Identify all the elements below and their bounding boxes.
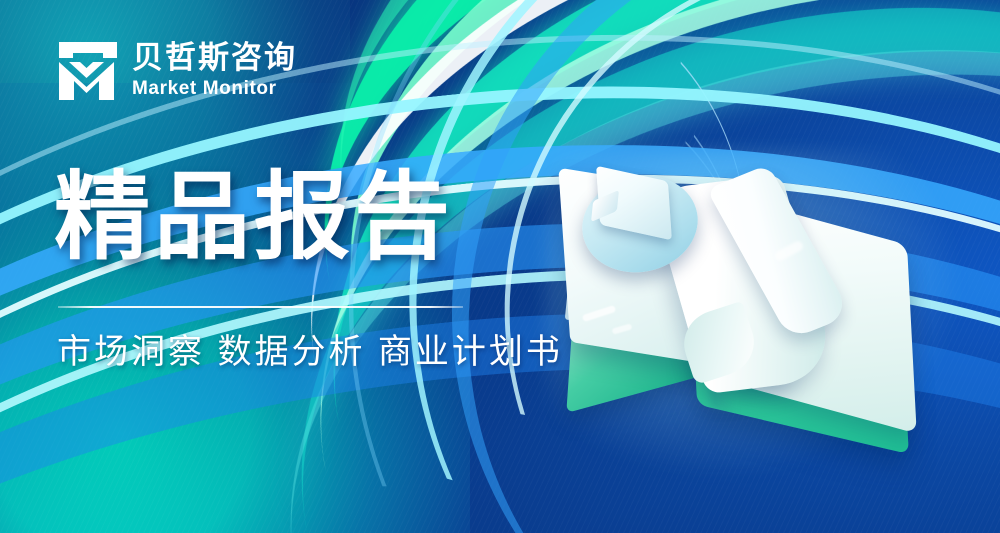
premium-report-banner: 贝哲斯咨询 Market Monitor 精品报告 市场洞察 数据分析 商业计划… bbox=[0, 0, 1000, 533]
brand-logo-text: 贝哲斯咨询 Market Monitor bbox=[132, 41, 297, 101]
open-book-illustration bbox=[560, 160, 960, 460]
banner-headline: 精品报告 bbox=[54, 168, 454, 269]
market-monitor-m-mark-icon bbox=[57, 40, 119, 102]
banner-subtitle: 市场洞察 数据分析 商业计划书 bbox=[57, 330, 563, 374]
headline-divider bbox=[58, 306, 463, 308]
brand-name-en: Market Monitor bbox=[132, 78, 297, 101]
brand-logo: 贝哲斯咨询 Market Monitor bbox=[57, 40, 297, 102]
brand-name-cn: 贝哲斯咨询 bbox=[132, 41, 297, 76]
